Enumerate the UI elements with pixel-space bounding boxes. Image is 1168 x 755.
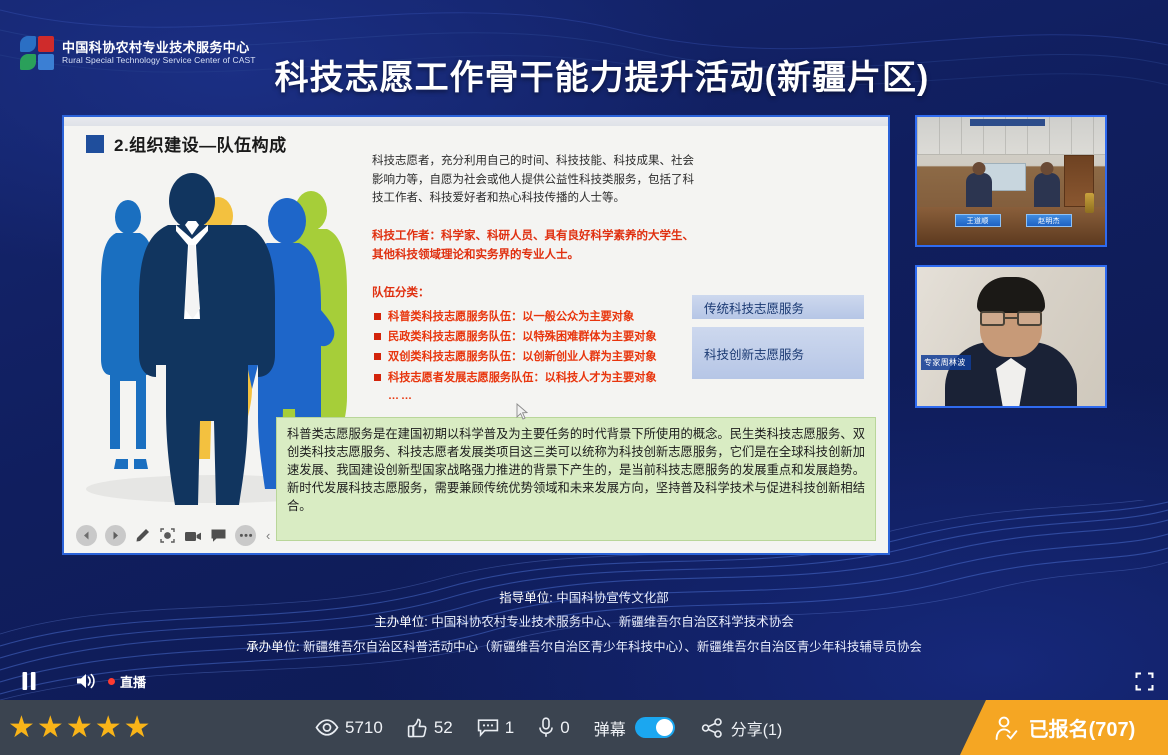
comment-count[interactable]: 1 <box>477 718 514 738</box>
share-label: 分享(1) <box>731 716 783 740</box>
speaker-hair <box>977 277 1045 313</box>
microphone-count-value: 0 <box>560 718 569 738</box>
stats-group: 5710 52 1 <box>315 700 782 755</box>
speaker-name-label: 专家周林波 <box>921 355 971 370</box>
list-item-label: 双创类科技志愿服务队伍：以创新创业人群为主要对象 <box>388 349 657 365</box>
credits-block: 指导单位: 中国科协宣传文化部 主办单位: 中国科协农村专业技术服务中心、新疆维… <box>0 586 1168 659</box>
rating-stars[interactable]: ★ ★ ★ ★ ★ <box>8 713 151 743</box>
slide-topbar <box>64 117 888 126</box>
star-icon[interactable]: ★ <box>8 713 35 743</box>
live-dot-icon <box>108 678 115 685</box>
like-count-value: 52 <box>434 718 453 738</box>
video-tile-speaker[interactable]: 专家周林波 <box>915 265 1107 408</box>
participant-right <box>1034 173 1060 207</box>
danmu-toggle[interactable] <box>635 717 675 738</box>
category-box-traditional: 传统科技志愿服务 <box>692 295 864 319</box>
star-icon[interactable]: ★ <box>66 713 93 743</box>
credit-label: 指导单位: <box>499 591 552 605</box>
category-box-innovation: 科技创新志愿服务 <box>692 327 864 379</box>
next-slide-icon[interactable] <box>105 525 126 546</box>
slide-summary-box: 科普类志愿服务是在建国初期以科学普及为主要任务的时代背景下所使用的概念。民生类科… <box>276 417 876 541</box>
view-count: 5710 <box>315 718 383 738</box>
microphone-icon[interactable] <box>538 717 554 738</box>
prev-slide-icon[interactable] <box>76 525 97 546</box>
collapse-chevron-icon[interactable]: ‹ <box>264 528 270 543</box>
video-stage: 中国科协农村专业技术服务中心 Rural Special Technology … <box>0 0 1168 700</box>
credit-value: 中国科协农村专业技术服务中心、新疆维吾尔自治区科学技术协会 <box>431 615 794 629</box>
credit-line-guidance: 指导单位: 中国科协宣传文化部 <box>0 586 1168 610</box>
credit-value: 新疆维吾尔自治区科普活动中心（新疆维吾尔自治区青少年科技中心）、新疆维吾尔自治区… <box>303 640 922 654</box>
mouse-cursor <box>516 403 528 420</box>
slide-heading-text: 2.组织建设—队伍构成 <box>114 131 287 156</box>
pen-icon[interactable] <box>134 527 151 544</box>
user-check-icon <box>993 715 1019 741</box>
bullet-square-icon <box>374 353 381 360</box>
credit-line-host: 主办单位: 中国科协农村专业技术服务中心、新疆维吾尔自治区科学技术协会 <box>0 610 1168 634</box>
view-count-value: 5710 <box>345 718 383 738</box>
list-item: 科普类科技志愿服务队伍：以一般公众为主要对象 <box>374 309 714 325</box>
credit-line-organizer: 承办单位: 新疆维吾尔自治区科普活动中心（新疆维吾尔自治区青少年科技中心）、新疆… <box>0 635 1168 659</box>
pause-icon[interactable] <box>18 671 40 691</box>
live-stream-page: 中国科协农村专业技术服务中心 Rural Special Technology … <box>0 0 1168 755</box>
bullet-square-icon <box>374 374 381 381</box>
star-icon[interactable]: ★ <box>95 713 122 743</box>
comment-icon[interactable] <box>210 528 227 543</box>
shared-slide[interactable]: 2.组织建设—队伍构成 <box>62 115 890 555</box>
danmu-label: 弹幕 <box>594 716 626 740</box>
share-button[interactable]: 分享(1) <box>701 716 783 740</box>
live-badge: 直播 <box>108 672 146 691</box>
credit-label: 承办单位: <box>246 640 299 654</box>
more-icon[interactable] <box>235 525 256 546</box>
slide-red-paragraph: 科技工作者：科学家、科研人员、具有良好科学素养的大学生、其他科技领域理论和实务界… <box>372 227 702 264</box>
list-item: 科技志愿者发展志愿服务队伍：以科技人才为主要对象 <box>374 370 714 386</box>
bullet-square-icon <box>374 313 381 320</box>
share-icon[interactable] <box>701 718 723 738</box>
page-title: 科技志愿工作骨干能力提升活动(新疆片区) <box>0 50 1168 99</box>
signup-button[interactable]: 已报名(707) <box>960 700 1168 755</box>
toggle-knob <box>656 719 673 736</box>
glasses-icon <box>980 311 1042 326</box>
eye-icon <box>315 719 339 736</box>
credit-value: 中国科协宣传文化部 <box>556 591 669 605</box>
nameplate: 王道顺 <box>955 214 1001 227</box>
thumbs-up-icon[interactable] <box>407 718 428 738</box>
wall-banner <box>970 119 1045 126</box>
comment-count-value: 1 <box>505 718 514 738</box>
list-item-label: 民政类科技志愿服务队伍：以特殊困难群体为主要对象 <box>388 329 657 345</box>
slide-annotation-toolbar[interactable]: ‹ <box>70 522 276 549</box>
slide-category-label: 队伍分类： <box>372 284 430 300</box>
live-label: 直播 <box>120 672 146 691</box>
heading-square-icon <box>86 135 104 153</box>
list-item: 民政类科技志愿服务队伍：以特殊困难群体为主要对象 <box>374 329 714 345</box>
list-item-label: 科技志愿者发展志愿服务队伍：以科技人才为主要对象 <box>388 370 657 386</box>
fullscreen-icon[interactable] <box>1134 672 1154 691</box>
slide-body-paragraph: 科技志愿者，充分利用自己的时间、科技技能、科技成果、社会影响力等，自愿为社会或他… <box>372 152 702 208</box>
video-tile-meeting-room[interactable]: 王道顺 赵明杰 <box>915 115 1107 247</box>
player-control-bar[interactable]: 直播 <box>0 662 1168 700</box>
microphone-count[interactable]: 0 <box>538 717 569 738</box>
like-count[interactable]: 52 <box>407 718 453 738</box>
volume-icon[interactable] <box>74 672 98 690</box>
list-ellipsis: …… <box>388 390 714 402</box>
participant-left <box>966 173 992 207</box>
camera-icon[interactable] <box>184 529 202 543</box>
list-item: 双创类科技志愿服务队伍：以创新创业人群为主要对象 <box>374 349 714 365</box>
conference-table <box>917 207 1105 245</box>
slide-heading: 2.组织建设—队伍构成 <box>86 131 287 156</box>
star-icon[interactable]: ★ <box>37 713 64 743</box>
signup-label: 已报名(707) <box>1029 713 1136 742</box>
bullet-square-icon <box>374 333 381 340</box>
category-box-label: 科技创新志愿服务 <box>704 344 804 363</box>
slide-bullet-list: 科普类科技志愿服务队伍：以一般公众为主要对象 民政类科技志愿服务队伍：以特殊困难… <box>374 309 714 402</box>
star-icon[interactable]: ★ <box>124 713 151 743</box>
list-item-label: 科普类科技志愿服务队伍：以一般公众为主要对象 <box>388 309 634 325</box>
focus-icon[interactable] <box>159 527 176 544</box>
category-box-label: 传统科技志愿服务 <box>704 298 804 317</box>
danmu-toggle-group[interactable]: 弹幕 <box>594 716 675 740</box>
cup <box>1085 193 1094 213</box>
credit-label: 主办单位: <box>374 615 427 629</box>
comment-icon[interactable] <box>477 718 499 737</box>
nameplate: 赵明杰 <box>1026 214 1072 227</box>
